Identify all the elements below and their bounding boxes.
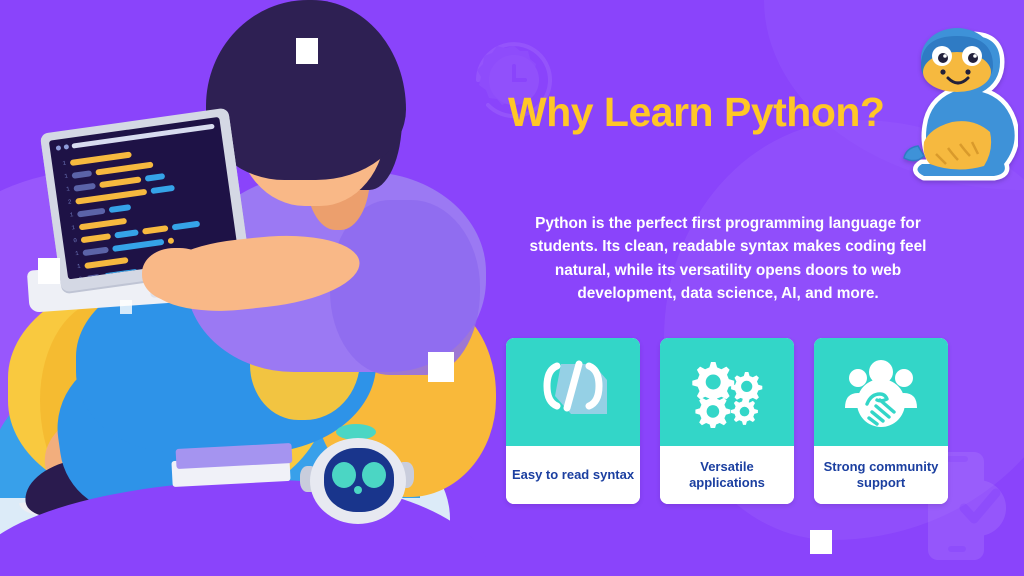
editor-line-number: 1 [59, 173, 68, 181]
code-brackets-icon [506, 338, 640, 446]
editor-line-number: 0 [69, 237, 78, 245]
editor-code-token [77, 207, 106, 217]
feature-card[interactable]: Versatile applications [660, 338, 794, 504]
editor-line-number: 3 [74, 276, 83, 280]
hero-illustration: 1112110113 [0, 0, 500, 576]
editor-dot [64, 144, 70, 150]
editor-code-token [142, 225, 169, 235]
gears-icon [660, 338, 794, 446]
editor-line-number: 1 [61, 185, 70, 193]
editor-code-token [99, 176, 141, 188]
editor-dot [56, 145, 62, 151]
editor-code-token [114, 229, 139, 238]
feature-card-label: Versatile applications [660, 446, 794, 504]
editor-code-token [167, 237, 174, 244]
sparkle-icon [428, 352, 454, 382]
sparkle-icon [38, 258, 60, 284]
editor-code-token [80, 233, 111, 243]
editor-code-token [172, 220, 201, 230]
community-handshake-icon [814, 338, 948, 446]
editor-code-token [145, 173, 166, 182]
editor-code-token [79, 217, 127, 230]
sparkle-icon [296, 38, 318, 64]
feature-card-label: Easy to read syntax [506, 446, 640, 504]
editor-code-token [82, 246, 109, 256]
editor-line-number: 1 [67, 224, 76, 232]
editor-line-number: 1 [65, 211, 74, 219]
character-hair [206, 0, 406, 180]
robot-eye-left [332, 462, 356, 488]
editor-line-number: 1 [70, 250, 79, 258]
editor-code-token [150, 184, 175, 193]
editor-code-token [71, 170, 92, 179]
editor-code-token [104, 268, 139, 279]
character-torso-shadow [330, 200, 480, 375]
body-paragraph: Python is the perfect first programming … [510, 212, 946, 306]
page-title: Why Learn Python? [508, 92, 958, 133]
editor-code-token [73, 182, 96, 191]
editor-code-token [112, 238, 164, 251]
feature-card-list: Easy to read syntax [506, 338, 948, 504]
robot-nose [354, 486, 362, 494]
sparkle-icon [120, 300, 132, 314]
editor-line-number: 2 [63, 198, 72, 206]
editor-line-number: 1 [72, 263, 81, 271]
robot-eye-right [362, 462, 386, 488]
editor-code-token [86, 274, 101, 280]
editor-code-token [84, 256, 128, 268]
content-column: Why Learn Python? Python is the perfect … [498, 0, 968, 576]
editor-line-number: 1 [58, 160, 67, 168]
feature-card[interactable]: Easy to read syntax [506, 338, 640, 504]
character-hand [142, 248, 212, 302]
feature-card[interactable]: Strong community support [814, 338, 948, 504]
editor-code-token [109, 204, 132, 213]
feature-card-label: Strong community support [814, 446, 948, 504]
slide-canvas: 1112110113 [0, 0, 1024, 576]
